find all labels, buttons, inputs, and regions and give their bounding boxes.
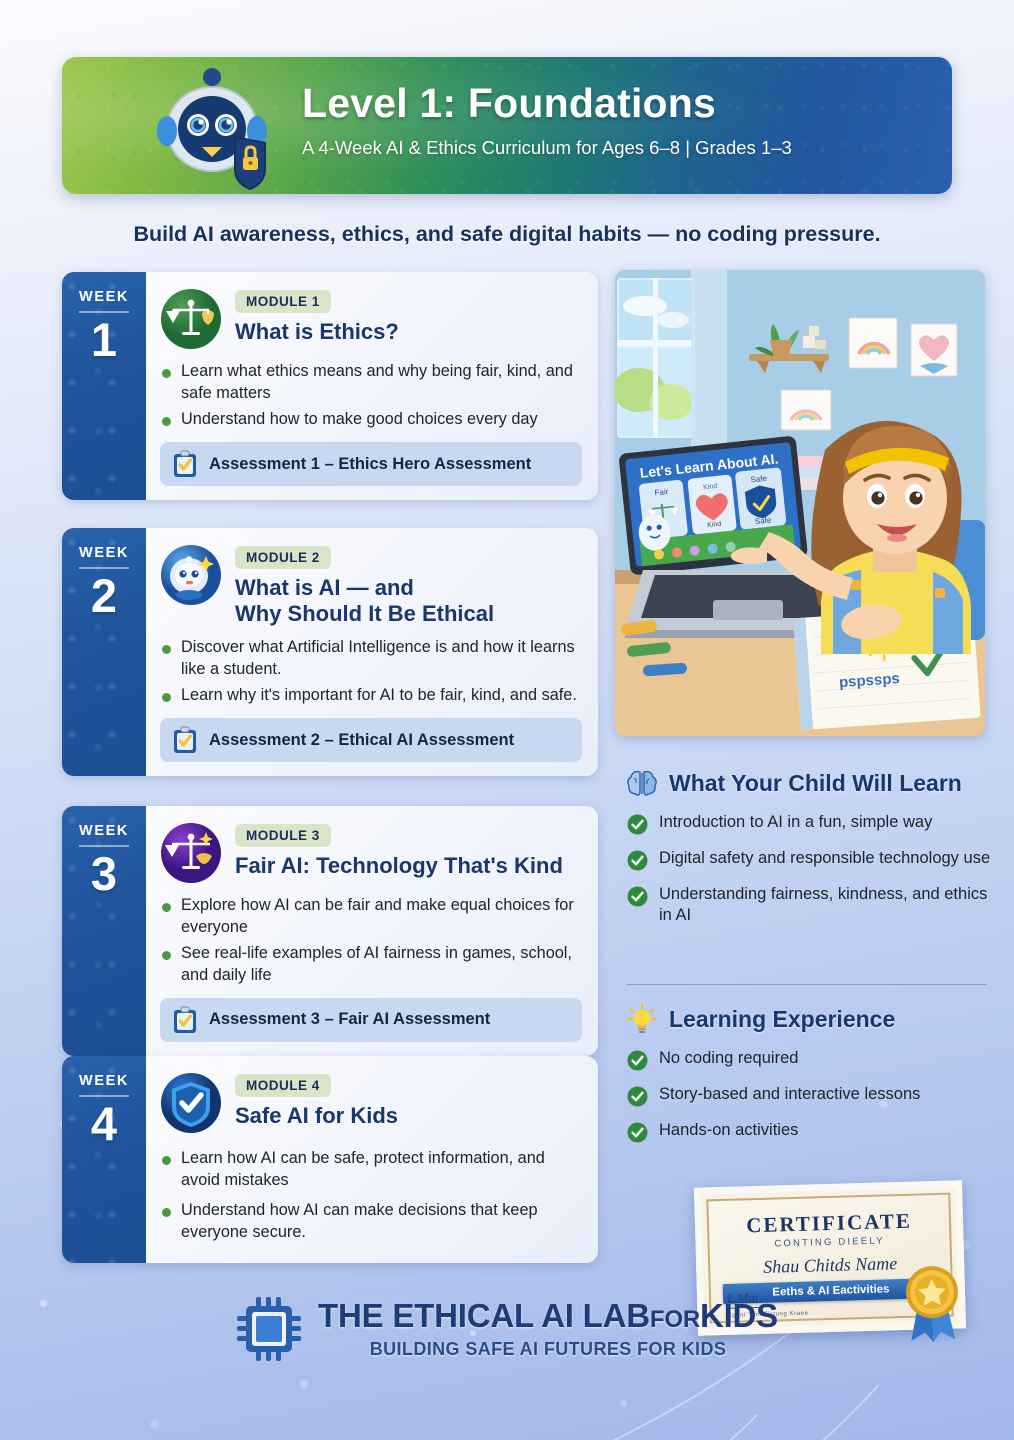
assessment-row[interactable]: Assessment 2 – Ethical AI Assessment [160, 718, 582, 762]
bullet-text: Understand how to make good choices ever… [181, 409, 538, 431]
list-item: Story-based and interactive lessons [627, 1084, 999, 1107]
lightbulb-icon [627, 1004, 657, 1034]
list-item-label: Understanding fairness, kindness, and et… [659, 884, 999, 927]
week-number: 2 [91, 572, 117, 619]
clipboard-check-icon [172, 450, 198, 478]
list-item: Discover what Artificial Intelligence is… [162, 637, 582, 680]
list-item-label: Hands-on activities [659, 1120, 798, 1141]
shield-check-icon [160, 1072, 222, 1134]
bullet-dot-icon [162, 1156, 171, 1165]
week-number: 4 [91, 1100, 117, 1147]
week-rail: WEEK 2 [62, 528, 146, 776]
week-rail: WEEK 3 [62, 806, 146, 1056]
module-badge: MODULE 3 [235, 824, 331, 847]
microchip-icon [236, 1296, 302, 1362]
check-circle-icon [627, 886, 648, 907]
module-badge: MODULE 2 [235, 546, 331, 569]
page-title: Level 1: Foundations [302, 81, 792, 127]
week-rail: WEEK 4 [62, 1056, 146, 1263]
clipboard-check-icon [172, 726, 198, 754]
svg-text:Fair: Fair [654, 487, 669, 497]
module-title: What is AI — and Why Should It Be Ethica… [235, 575, 582, 626]
week-number: 3 [91, 850, 117, 897]
module-title: What is Ethics? [235, 319, 582, 345]
module-title: Fair AI: Technology That's Kind [235, 853, 582, 879]
week-rail: WEEK 1 [62, 272, 146, 500]
robot-shield-lock-icon [147, 65, 277, 190]
list-item: Understanding fairness, kindness, and et… [627, 884, 999, 927]
list-item-label: No coding required [659, 1048, 798, 1069]
list-item: Understand how AI can make decisions tha… [162, 1200, 582, 1243]
bullet-dot-icon [162, 645, 171, 654]
header-subtitle: A 4-Week AI & Ethics Curriculum for Ages… [302, 137, 792, 159]
bullet-list: Learn how AI can be safe, protect inform… [160, 1148, 582, 1244]
bullet-dot-icon [162, 369, 171, 378]
check-circle-icon [627, 1086, 648, 1107]
list-item: Understand how to make good choices ever… [162, 409, 582, 431]
list-item-label: Story-based and interactive lessons [659, 1084, 920, 1105]
bullet-text: Understand how AI can make decisions tha… [181, 1200, 582, 1243]
svg-text:Safe: Safe [754, 515, 772, 526]
robot-sparkle-icon [160, 544, 222, 606]
check-circle-icon [627, 1050, 648, 1071]
footer-main-part3: KIDS [700, 1297, 778, 1334]
learn-section: What Your Child Will Learn Introduction … [627, 768, 999, 940]
week-card: WEEK 1 MODULE 1 What is Ethics? [62, 272, 598, 500]
assessment-label: Assessment 1 – Ethics Hero Assessment [209, 455, 531, 474]
bullet-text: See real-life examples of AI fairness in… [181, 943, 582, 986]
bullet-dot-icon [162, 1208, 171, 1217]
module-badge: MODULE 1 [235, 290, 331, 313]
assessment-label: Assessment 3 – Fair AI Assessment [209, 1010, 490, 1029]
week-card: WEEK 4 MODULE 4 Safe AI for Kids Learn h… [62, 1056, 598, 1263]
bullet-list: Learn what ethics means and why being fa… [160, 361, 582, 431]
week-card: WEEK 3 MODULE 3 Fair AI: Technology That… [62, 806, 598, 1056]
list-item: Hands-on activities [627, 1120, 999, 1143]
footer-logo: THE ETHICAL AI LABFORKIDS BUILDING SAFE … [0, 1296, 1014, 1362]
module-badge: MODULE 4 [235, 1074, 331, 1097]
bullet-dot-icon [162, 417, 171, 426]
section-divider [627, 984, 987, 985]
assessment-row[interactable]: Assessment 1 – Ethics Hero Assessment [160, 442, 582, 486]
bullet-dot-icon [162, 903, 171, 912]
experience-section: Learning Experience No coding required S… [627, 1004, 999, 1156]
check-circle-icon [627, 850, 648, 871]
week-card: WEEK 2 MODULE 2 What is AI — and Wh [62, 528, 598, 776]
week-label: WEEK [79, 289, 129, 305]
list-item-label: Digital safety and responsible technolog… [659, 848, 990, 869]
child-at-laptop-illustration: Let's Learn About AI. Fair Kind Kind Saf… [615, 270, 985, 736]
scales-sparkle-icon [160, 822, 222, 884]
svg-text:Kind: Kind [707, 521, 722, 529]
bullet-text: Explore how AI can be fair and make equa… [181, 895, 582, 938]
brain-icon [627, 768, 657, 798]
week-label: WEEK [79, 545, 129, 561]
bullet-dot-icon [162, 693, 171, 702]
bullet-text: Learn what ethics means and why being fa… [181, 361, 582, 404]
list-item: Digital safety and responsible technolog… [627, 848, 999, 871]
list-item: Introduction to AI in a fun, simple way [627, 812, 999, 835]
assessment-label: Assessment 2 – Ethical AI Assessment [209, 731, 514, 750]
bullet-list: Discover what Artificial Intelligence is… [160, 637, 582, 707]
footer-subtitle: BUILDING SAFE AI FUTURES FOR KIDS [318, 1339, 778, 1360]
week-number: 1 [91, 316, 117, 363]
section-title: Learning Experience [669, 1006, 895, 1033]
list-item: No coding required [627, 1048, 999, 1071]
tagline: Build AI awareness, ethics, and safe dig… [0, 222, 1014, 247]
list-item: Learn what ethics means and why being fa… [162, 361, 582, 404]
module-title: Safe AI for Kids [235, 1103, 582, 1129]
clipboard-check-icon [172, 1006, 198, 1034]
section-title: What Your Child Will Learn [669, 770, 962, 797]
list-item: See real-life examples of AI fairness in… [162, 943, 582, 986]
bullet-text: Discover what Artificial Intelligence is… [181, 637, 582, 680]
bullet-list: Explore how AI can be fair and make equa… [160, 895, 582, 987]
header-banner: Level 1: Foundations A 4-Week AI & Ethic… [62, 57, 952, 194]
bullet-dot-icon [162, 951, 171, 960]
list-item: Explore how AI can be fair and make equa… [162, 895, 582, 938]
svg-text:Safe: Safe [750, 474, 768, 485]
check-circle-icon [627, 1122, 648, 1143]
list-item: Learn why it's important for AI to be fa… [162, 685, 582, 707]
week-label: WEEK [79, 823, 129, 839]
list-item-label: Introduction to AI in a fun, simple way [659, 812, 932, 833]
check-circle-icon [627, 814, 648, 835]
svg-text:Kind: Kind [703, 483, 718, 491]
list-item: Learn how AI can be safe, protect inform… [162, 1148, 582, 1191]
footer-main-part1: THE ETHICAL AI LAB [318, 1297, 650, 1334]
week-label: WEEK [79, 1073, 129, 1089]
footer-main-part2: FOR [650, 1306, 700, 1333]
scales-heart-icon [160, 288, 222, 350]
bullet-text: Learn how AI can be safe, protect inform… [181, 1148, 582, 1191]
assessment-row[interactable]: Assessment 3 – Fair AI Assessment [160, 998, 582, 1042]
bullet-text: Learn why it's important for AI to be fa… [181, 685, 577, 707]
